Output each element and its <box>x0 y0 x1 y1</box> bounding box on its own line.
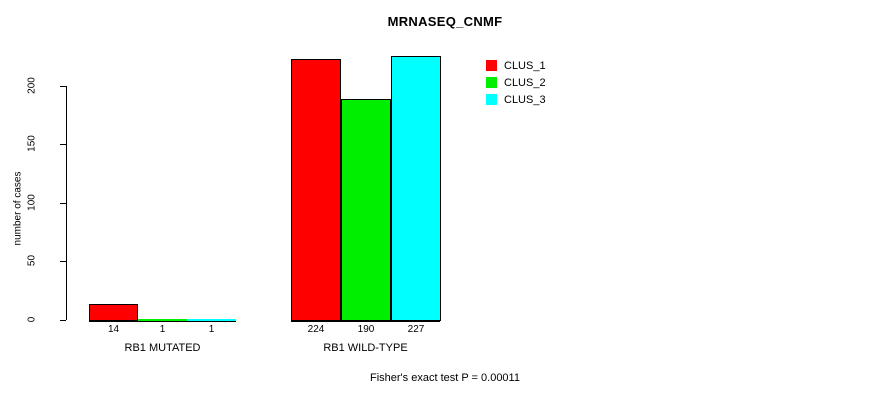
legend-item-clus-1[interactable]: CLUS_1 <box>486 58 546 73</box>
y-tick-label-150-text: 150 <box>27 124 38 164</box>
legend-item-clus-3[interactable]: CLUS_3 <box>486 92 546 107</box>
chart-canvas: MRNASEQ_CNMF number of cases 0 50 100 15… <box>0 0 890 400</box>
y-tick-200 <box>60 86 66 87</box>
y-tick-0 <box>60 320 66 321</box>
bar-value-label: 190 <box>341 324 391 335</box>
bar-group2-clus3[interactable] <box>391 56 441 321</box>
group-label-rb1-wild-type: RB1 WILD-TYPE <box>291 342 440 354</box>
page-title: MRNASEQ_CNMF <box>0 14 890 29</box>
bar-value-label: 224 <box>291 324 341 335</box>
bar-group1-clus2[interactable] <box>138 319 187 321</box>
bar-group2-clus2[interactable] <box>341 99 391 321</box>
group-label-rb1-mutated: RB1 MUTATED <box>89 342 236 354</box>
y-tick-50 <box>60 261 66 262</box>
y-tick-label-200: 200 <box>12 80 52 92</box>
y-tick-150 <box>60 144 66 145</box>
y-tick-label-100: 100 <box>12 197 52 209</box>
y-tick-label-200-text: 200 <box>27 66 38 106</box>
legend-swatch-icon <box>486 60 497 71</box>
legend: CLUS_1 CLUS_2 CLUS_3 <box>486 58 546 109</box>
y-tick-100 <box>60 203 66 204</box>
bar-group2-clus1[interactable] <box>291 59 341 321</box>
y-tick-label-50: 50 <box>12 255 52 267</box>
y-tick-label-0-text: 0 <box>27 300 38 340</box>
legend-item-label: CLUS_2 <box>504 77 546 89</box>
legend-item-clus-2[interactable]: CLUS_2 <box>486 75 546 90</box>
legend-item-label: CLUS_1 <box>504 60 546 72</box>
bar-value-label: 14 <box>89 324 138 335</box>
legend-swatch-icon <box>486 77 497 88</box>
y-tick-label-0: 0 <box>12 314 52 326</box>
legend-item-label: CLUS_3 <box>504 94 546 106</box>
bar-group1-clus3[interactable] <box>187 319 236 321</box>
statistical-annotation: Fisher's exact test P = 0.00011 <box>0 372 890 384</box>
legend-swatch-icon <box>486 94 497 105</box>
bar-group1-clus1[interactable] <box>89 304 138 321</box>
y-axis-line <box>66 86 67 320</box>
y-tick-label-100-text: 100 <box>27 183 38 223</box>
bar-value-label: 227 <box>391 324 441 335</box>
y-tick-label-150: 150 <box>12 138 52 150</box>
bar-value-label: 1 <box>187 324 236 335</box>
bar-value-label: 1 <box>138 324 187 335</box>
y-tick-label-50-text: 50 <box>27 241 38 281</box>
